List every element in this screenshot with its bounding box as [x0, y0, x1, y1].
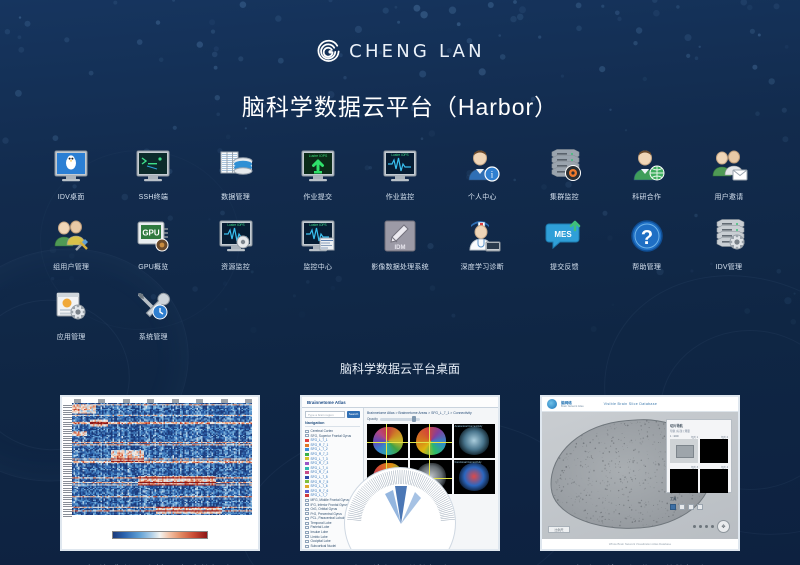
thumbnail-label: 切片 4: [721, 465, 728, 469]
opacity-label: Opacity: [367, 417, 378, 421]
desktop-icon-mes-bubble[interactable]: MES提交反馈: [523, 216, 605, 272]
region-color-swatch: [305, 457, 309, 460]
slice-thumbnail[interactable]: [670, 439, 698, 463]
brainnetome-main: Brainnetome Atlas > Brainnetome Areas > …: [364, 408, 498, 549]
connectogram-spokes: [345, 468, 457, 551]
panel-gene-expression[interactable]: 躯体感觉环路基因表达数据库: [60, 395, 260, 565]
brain-view-tile-coronal-atlas[interactable]: [367, 424, 408, 458]
desktop-icon-label: SSH终端: [139, 192, 168, 202]
svg-text:Lustre IOPS: Lustre IOPS: [309, 154, 328, 158]
panel-brainnetome-atlas[interactable]: Brainnetome Atlas Type a brain region Se…: [300, 395, 500, 565]
desktop-icon-label: 组用户管理: [53, 262, 89, 272]
database-table-icon[interactable]: [216, 146, 256, 186]
question-help-icon[interactable]: ?: [627, 216, 667, 256]
desktop-icon-users-tools[interactable]: 组用户管理: [30, 216, 112, 272]
panel-whole-brain-frame[interactable]: 脑网络 Brain Network Atlas Visible Brain Sl…: [540, 395, 740, 551]
region-color-swatch: [305, 545, 309, 548]
region-color-swatch: [305, 508, 309, 511]
whole-brain-footer: Whole Brain Network Visualization Atlas …: [542, 539, 738, 549]
region-color-swatch: [305, 467, 309, 470]
desktop-icon-monitor-linux[interactable]: IDV桌面: [30, 146, 112, 202]
brain-view-tile-sagittal-surface[interactable]: [410, 424, 451, 458]
region-color-swatch: [305, 494, 309, 497]
doctor-laptop-icon[interactable]: [462, 216, 502, 256]
desktop-icon-label: 个人中心: [468, 192, 497, 202]
desktop-caption: 脑科学数据云平台桌面: [0, 360, 800, 377]
monitor-upload-arrow-icon[interactable]: Lustre IOPS: [298, 146, 338, 186]
tool-measure-icon[interactable]: [697, 504, 703, 510]
terminal-icon[interactable]: [133, 146, 173, 186]
region-color-swatch: [305, 490, 309, 493]
desktop-icon-label: 深度学习诊断: [461, 262, 504, 272]
region-color-swatch: [305, 540, 309, 543]
region-color-swatch: [305, 517, 309, 520]
connectogram-circle: [344, 467, 456, 551]
desktop-icon-question-help[interactable]: ?帮助管理: [606, 216, 688, 272]
heatmap-screenshot: [62, 397, 258, 549]
tool-buttons[interactable]: [670, 504, 728, 510]
desktop-icon-user-globe[interactable]: 科研合作: [606, 146, 688, 202]
slice-thumbnail[interactable]: [700, 439, 728, 463]
slice-thumbnail[interactable]: [700, 469, 728, 493]
brain-logo-icon: [547, 399, 557, 409]
region-color-swatch: [305, 480, 309, 483]
tool-select-icon[interactable]: [670, 504, 676, 510]
tool-panel-tabs[interactable]: 导航 | 标注 | 测量: [670, 429, 728, 433]
users-tools-icon[interactable]: [51, 216, 91, 256]
whole-brain-topbar: 脑网络 Brain Network Atlas Visible Brain Sl…: [542, 397, 738, 412]
whole-brain-screenshot: 脑网络 Brain Network Atlas Visible Brain Sl…: [542, 397, 738, 549]
tool-panel-title: 切片导航: [670, 423, 728, 428]
desktop-icon-user-info[interactable]: i个人中心: [441, 146, 523, 202]
thumbnail-cell-wrap[interactable]: 切片 4: [700, 465, 728, 493]
region-color-swatch: [305, 485, 309, 488]
search-button[interactable]: Search: [347, 411, 360, 418]
desktop-icon-label: 作业监控: [386, 192, 415, 202]
desktop-icon-label: 系统管理: [139, 332, 168, 342]
crosshair-horizontal: [367, 442, 408, 443]
breadcrumb: Brainnetome Atlas > Brainnetome Areas > …: [367, 411, 495, 415]
brain-render: [459, 463, 489, 490]
desktop-icon-label: 集群监控: [550, 192, 579, 202]
desktop-icon-server-gear[interactable]: IDV管理: [688, 216, 770, 272]
desktop-icon-label: 帮助管理: [632, 262, 661, 272]
desktop-icon-app-folder-gear[interactable]: 应用管理: [30, 286, 112, 342]
opacity-control[interactable]: Opacity: [367, 417, 495, 421]
region-color-swatch: [305, 434, 309, 437]
mes-bubble-icon[interactable]: MES: [544, 216, 584, 256]
desktop-icon-label: 影像数据处理系统: [371, 262, 429, 272]
thumbnail-label: 切片 2: [721, 435, 728, 439]
svg-text:Lustre IOPS: Lustre IOPS: [309, 223, 326, 227]
opacity-slider[interactable]: [380, 418, 420, 421]
desktop-icon-label: 监控中心: [303, 262, 332, 272]
idm-brush-icon[interactable]: IDM: [380, 216, 420, 256]
scale-bar-button[interactable]: 比例尺: [548, 526, 570, 533]
brainnetome-app-title: Brainnetome Atlas: [302, 397, 498, 408]
tile-label: Functional Connectivity: [455, 461, 482, 464]
whole-brain-nav-text[interactable]: Visible Brain Slice Database: [604, 402, 657, 406]
zoom-out-icon[interactable]: [693, 525, 696, 528]
nav-tree-label: Subcortical Nuclei: [311, 544, 337, 549]
region-color-swatch: [305, 462, 309, 465]
brain-view-tile-functional-connectivity[interactable]: Functional Connectivity: [454, 460, 495, 494]
region-color-swatch: [305, 522, 309, 525]
fullscreen-icon[interactable]: [711, 525, 714, 528]
desktop-icon-label: 资源监控: [221, 262, 250, 272]
panel-whole-brain-viewer[interactable]: 脑网络 Brain Network Atlas Visible Brain Sl…: [540, 395, 740, 565]
compass-icon[interactable]: ✥: [717, 520, 730, 533]
zoom-in-icon[interactable]: [699, 525, 702, 528]
region-color-swatch: [305, 453, 309, 456]
svg-text:MES: MES: [555, 230, 573, 239]
region-color-swatch: [305, 430, 309, 433]
desktop-icon-doctor-laptop[interactable]: 深度学习诊断: [441, 216, 523, 272]
desktop-icon-label: 作业提交: [303, 192, 332, 202]
brain-view-tile-anatomical-connectivity[interactable]: Anatomical Connectivity: [454, 424, 495, 458]
users-mail-icon[interactable]: [709, 146, 749, 186]
panel-brainnetome-frame[interactable]: Brainnetome Atlas Type a brain region Se…: [300, 395, 500, 551]
home-icon[interactable]: [705, 525, 708, 528]
desktop-icon-label: IDV桌面: [58, 192, 85, 202]
heatmap-colorbar: [112, 531, 208, 539]
desktop-icon-monitor-waveform[interactable]: Lustre IOPS作业监控: [359, 146, 441, 202]
thumbnail-cell-wrap[interactable]: 切片 2: [700, 435, 728, 463]
svg-text:Lustre IOPS: Lustre IOPS: [391, 153, 408, 157]
monitor-linux-icon[interactable]: [51, 146, 91, 186]
whole-brain-app-subtitle: Brain Network Atlas: [561, 405, 584, 408]
panel-gene-expression-frame[interactable]: [60, 395, 260, 551]
monitor-waveform-icon[interactable]: Lustre IOPS: [380, 146, 420, 186]
brand-logo: CHENG LAN: [0, 34, 800, 68]
search-input[interactable]: Type a brain region: [305, 411, 345, 418]
thumbnail-cell-wrap[interactable]: 切片 3: [670, 465, 698, 493]
brainnetome-screenshot: Brainnetome Atlas Type a brain region Se…: [302, 397, 498, 549]
page-title: 脑科学数据云平台（Harbor）: [0, 88, 800, 122]
desktop-icon-terminal[interactable]: SSH终端: [112, 146, 194, 202]
user-globe-icon[interactable]: [627, 146, 667, 186]
region-color-swatch: [305, 535, 309, 538]
heatmap-canvas: [72, 403, 252, 515]
desktop-icon-database-table[interactable]: 数据管理: [194, 146, 276, 202]
region-color-swatch: [305, 471, 309, 474]
region-color-swatch: [305, 531, 309, 534]
user-info-icon[interactable]: i: [462, 146, 502, 186]
region-color-swatch: [305, 526, 309, 529]
brain-render: [459, 427, 489, 454]
slice-stage[interactable]: 切片导航 导航 | 标注 | 测量 1 : 1000切片 1切片 2切片 3切片…: [542, 412, 738, 539]
tool-pan-icon[interactable]: [679, 504, 685, 510]
svg-text:GPU: GPU: [143, 229, 161, 238]
crosshair-horizontal: [410, 442, 451, 443]
region-color-swatch: [305, 444, 309, 447]
app-folder-gear-icon[interactable]: [51, 286, 91, 326]
desktop-icon-monitor-window[interactable]: Lustre IOPS监控中心: [277, 216, 359, 272]
slice-thumbnail-grid[interactable]: 1 : 1000切片 1切片 2切片 3切片 4: [670, 435, 728, 493]
desktop-icon-label: 数据管理: [221, 192, 250, 202]
desktop-icon-label: GPU概览: [138, 262, 168, 272]
desktop-icon-label: 科研合作: [632, 192, 661, 202]
desktop-icon-monitor-gear[interactable]: Lustre IOPS资源监控: [194, 216, 276, 272]
wrench-screwdriver-icon[interactable]: [133, 286, 173, 326]
database-panels: 躯体感觉环路基因表达数据库 Brainnetome Atlas Type a b…: [60, 395, 740, 565]
tool-zoom-icon[interactable]: [688, 504, 694, 510]
desktop-icon-label: IDV管理: [716, 262, 743, 272]
desktop-icon-idm-brush[interactable]: IDM影像数据处理系统: [359, 216, 441, 272]
svg-text:IDM: IDM: [394, 245, 405, 251]
desktop-icon-label: 用户邀请: [714, 192, 743, 202]
monitor-window-icon[interactable]: Lustre IOPS: [298, 216, 338, 256]
svg-text:Lustre IOPS: Lustre IOPS: [227, 223, 244, 227]
page-header: CHENG LAN 脑科学数据云平台（Harbor）: [0, 0, 800, 122]
brainnetome-search-row[interactable]: Type a brain region Search: [305, 411, 360, 418]
desktop-icon-label: 提交反馈: [550, 262, 579, 272]
region-color-swatch: [305, 439, 309, 442]
heatmap-x-ticks: [74, 399, 252, 404]
slice-thumbnail[interactable]: [670, 469, 698, 493]
svg-text:?: ?: [641, 227, 653, 249]
server-gear-icon[interactable]: [709, 216, 749, 256]
region-color-swatch: [305, 499, 309, 502]
heatmap-y-ticks: [63, 405, 72, 517]
spiral-logo-icon: [315, 38, 342, 65]
tile-label: Anatomical Connectivity: [455, 425, 483, 428]
tools-label: 工具: [670, 496, 728, 501]
thumbnail-label: 切片 3: [691, 465, 698, 469]
desktop-icon-server-gauge[interactable]: 集群监控: [523, 146, 605, 202]
monitor-gear-icon[interactable]: Lustre IOPS: [216, 216, 256, 256]
region-color-swatch: [305, 503, 309, 506]
region-color-swatch: [305, 476, 309, 479]
gpu-chip-icon[interactable]: GPU: [133, 216, 173, 256]
region-color-swatch: [305, 512, 309, 515]
slice-tool-panel[interactable]: 切片导航 导航 | 标注 | 测量 1 : 1000切片 1切片 2切片 3切片…: [666, 419, 732, 493]
desktop-icon-monitor-upload-arrow[interactable]: Lustre IOPS作业提交: [277, 146, 359, 202]
desktop-icon-label: 应用管理: [57, 332, 86, 342]
desktop-icon-gpu-chip[interactable]: GPUGPU概览: [112, 216, 194, 272]
brand-logo-text: CHENG LAN: [349, 41, 485, 62]
viewer-controls[interactable]: ✥: [693, 520, 730, 533]
navigation-heading: Navigation: [305, 421, 360, 427]
desktop-icon-users-mail[interactable]: 用户邀请: [688, 146, 770, 202]
server-gauge-icon[interactable]: [544, 146, 584, 186]
desktop-icon-grid: IDV桌面SSH终端数据管理Lustre IOPS作业提交Lustre IOPS…: [30, 146, 770, 342]
region-color-swatch: [305, 448, 309, 451]
desktop-icon-wrench-screwdriver[interactable]: 系统管理: [112, 286, 194, 342]
thumbnail-cell-wrap[interactable]: 1 : 1000切片 1: [670, 435, 698, 463]
